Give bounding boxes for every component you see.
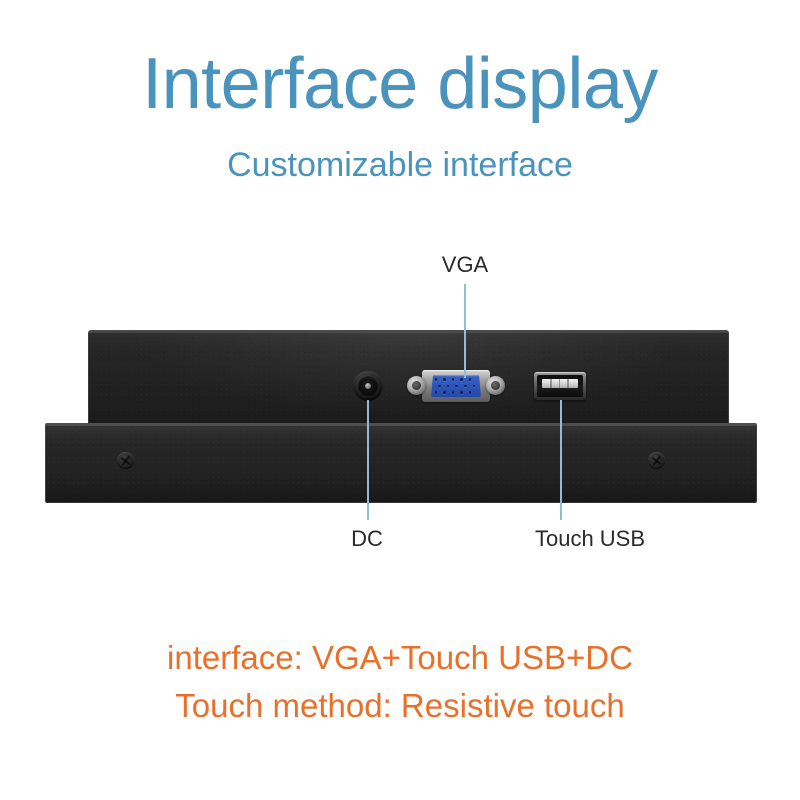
usb-contact-tongue — [542, 379, 578, 388]
vga-pins — [433, 377, 479, 395]
spec-line-touch-method: Touch method: Resistive touch — [0, 684, 800, 728]
usb-cavity — [537, 375, 583, 397]
screw-left — [117, 452, 134, 469]
dc-jack — [353, 371, 383, 401]
vga-port — [406, 369, 506, 403]
leader-line-usb — [560, 400, 562, 520]
dc-jack-pin — [365, 383, 371, 389]
vga-screw-post-left — [407, 376, 426, 395]
device-illustration — [0, 0, 800, 800]
usb-port — [534, 372, 586, 400]
spec-line-interface: interface: VGA+Touch USB+DC — [0, 636, 800, 680]
callout-label-usb: Touch USB — [490, 526, 690, 552]
vga-screw-post-right — [486, 376, 505, 395]
screw-right — [648, 452, 665, 469]
callout-label-vga: VGA — [390, 252, 540, 278]
infographic-canvas: Interface display Customizable interface — [0, 0, 800, 800]
callout-label-dc: DC — [297, 526, 437, 552]
leader-line-dc — [367, 400, 369, 520]
leader-line-vga — [464, 284, 466, 378]
